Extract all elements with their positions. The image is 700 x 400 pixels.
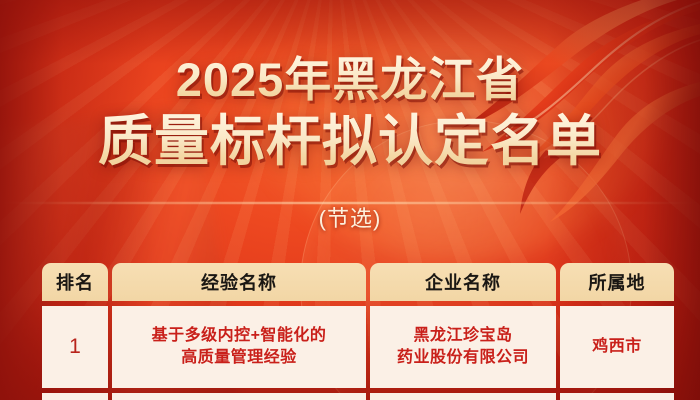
table-value-company-line-1: 黑龙江珍宝岛 (413, 327, 512, 344)
table-next-row-sliver-location (560, 393, 674, 400)
poster-title-line-1: 2025年黑龙江省 (0, 52, 700, 108)
table-cell-next-experience (112, 393, 366, 400)
table-value-company: 黑龙江珍宝岛 药业股份有限公司 (370, 306, 556, 388)
table-header-row: 排名 经验名称 企业名称 所属地 (42, 263, 674, 301)
table-header-label-location: 所属地 (560, 263, 674, 301)
poster-title-line-2: 质量标杆拟认定名单 (0, 109, 700, 173)
table-next-row-sliver-rank (42, 393, 108, 400)
table-header-cell-location: 所属地 (560, 263, 674, 301)
poster-root: 2025年黑龙江省 质量标杆拟认定名单 (节选) 排名 经验名称 企业名称 所属… (0, 0, 700, 400)
poster-subtitle: (节选) (0, 204, 700, 234)
table-header-label-experience: 经验名称 (112, 263, 366, 301)
ranking-table: 排名 经验名称 企业名称 所属地 1 (38, 258, 678, 400)
table-value-experience-line-1: 基于多级内控+智能化的 (152, 327, 327, 344)
table-cell-next-rank (42, 393, 108, 400)
table-header-cell-experience: 经验名称 (112, 263, 366, 301)
table-header-label-rank: 排名 (42, 263, 108, 301)
table-cell-experience: 基于多级内控+智能化的 高质量管理经验 (112, 306, 366, 388)
table-value-company-line-2: 药业股份有限公司 (397, 349, 529, 366)
table-next-row-sliver-experience (112, 393, 366, 400)
table-value-experience: 基于多级内控+智能化的 高质量管理经验 (112, 306, 366, 388)
table-body: 1 基于多级内控+智能化的 高质量管理经验 黑龙江珍宝岛 药业股份有限公 (42, 306, 674, 400)
table-header-cell-rank: 排名 (42, 263, 108, 301)
table-cell-next-location (560, 393, 674, 400)
table-cell-rank: 1 (42, 306, 108, 388)
table-row-next-partial (42, 393, 674, 400)
table-header: 排名 经验名称 企业名称 所属地 (42, 263, 674, 301)
table-header-label-company: 企业名称 (370, 263, 556, 301)
table-header-cell-company: 企业名称 (370, 263, 556, 301)
table-cell-location: 鸡西市 (560, 306, 674, 388)
table-next-row-sliver-company (370, 393, 556, 400)
table-value-experience-line-2: 高质量管理经验 (181, 349, 297, 366)
poster-title-block: 2025年黑龙江省 质量标杆拟认定名单 (0, 52, 700, 173)
table-cell-next-company (370, 393, 556, 400)
table-cell-company: 黑龙江珍宝岛 药业股份有限公司 (370, 306, 556, 388)
table-value-rank: 1 (42, 306, 108, 388)
table-row: 1 基于多级内控+智能化的 高质量管理经验 黑龙江珍宝岛 药业股份有限公 (42, 306, 674, 388)
table-value-location: 鸡西市 (560, 306, 674, 388)
